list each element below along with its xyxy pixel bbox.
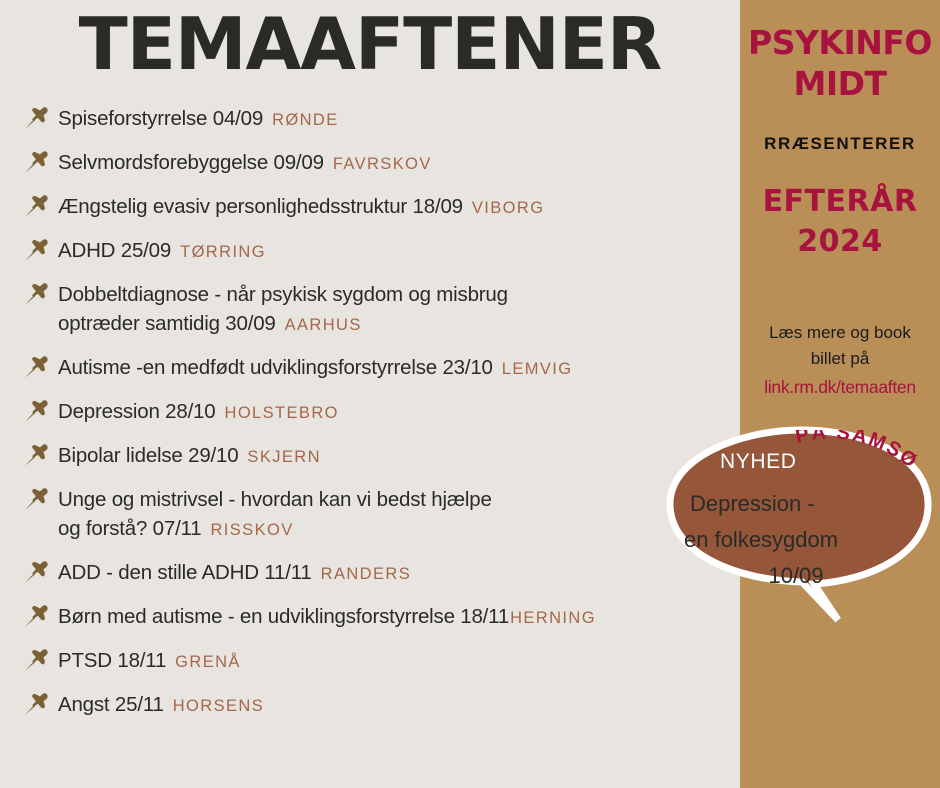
bubble-line-1: Depression - (680, 486, 910, 522)
event-text: ADHD 25/09TØRRING (58, 236, 266, 267)
list-item: Unge og mistrivsel - hvordan kan vi beds… (22, 485, 738, 545)
pushpin-icon (22, 282, 52, 308)
bubble-text-content: NYHED Depression - en folkesygdom 10/09 (662, 424, 940, 614)
season-label: EFTERÅR 2024 (740, 182, 940, 262)
pushpin-icon (22, 355, 52, 381)
bubble-line-3: 10/09 (680, 558, 910, 594)
event-title: Spiseforstyrrelse 04/09 (58, 107, 263, 130)
list-item: Børn med autisme - en udviklingsforstyrr… (22, 602, 738, 633)
event-city: AARHUS (285, 316, 362, 334)
event-title: Selvmordsforebyggelse 09/09 (58, 151, 324, 174)
presents-label: RRÆSENTERER (740, 134, 940, 154)
list-item: ADD - den stille ADHD 11/11RANDERS (22, 558, 738, 589)
page-title: TEMAAFTENER (0, 8, 740, 80)
event-title: Unge og mistrivsel - hvordan kan vi beds… (58, 488, 492, 511)
event-city: GRENÅ (175, 653, 241, 671)
news-badge: NYHED (720, 450, 797, 474)
list-item: Depression 28/10HOLSTEBRO (22, 397, 738, 428)
sidebar-panel: PSYKINFO MIDT RRÆSENTERER EFTERÅR 2024 L… (740, 0, 940, 788)
pushpin-icon (22, 443, 52, 469)
event-text: Spiseforstyrrelse 04/09RØNDE (58, 104, 339, 135)
bubble-line-2: en folkesygdom (680, 522, 910, 558)
event-city: RISSKOV (210, 521, 293, 539)
season-line-2: 2024 (740, 222, 940, 262)
event-text: Bipolar lidelse 29/10SKJERN (58, 441, 321, 472)
poster-canvas: TEMAAFTENER Spiseforstyrrelse 04/09RØNDE… (0, 0, 940, 788)
event-text: Dobbeltdiagnose - når psykisk sygdom og … (58, 280, 508, 340)
event-city: HORSENS (173, 697, 264, 715)
event-text: Børn med autisme - en udviklingsforstyrr… (58, 602, 596, 633)
event-text: Selvmordsforebyggelse 09/09FAVRSKOV (58, 148, 432, 179)
list-item: Selvmordsforebyggelse 09/09FAVRSKOV (22, 148, 738, 179)
pushpin-icon (22, 150, 52, 176)
event-city: RANDERS (321, 565, 411, 583)
list-item: Autisme -en medfødt udviklingsforstyrrel… (22, 353, 738, 384)
event-title: Autisme -en medfødt udviklingsforstyrrel… (58, 356, 493, 379)
event-title-line2: optræder samtidig 30/09AARHUS (58, 309, 508, 340)
event-title: Ængstelig evasiv personlighedsstruktur 1… (58, 195, 463, 218)
event-text: ADD - den stille ADHD 11/11RANDERS (58, 558, 411, 589)
event-city: HOLSTEBRO (225, 404, 339, 422)
event-city: LEMVIG (502, 360, 573, 378)
pushpin-icon (22, 648, 52, 674)
list-item: Ængstelig evasiv personlighedsstruktur 1… (22, 192, 738, 223)
booking-url-link[interactable]: link.rm.dk/temaaften (740, 374, 940, 400)
event-text: Depression 28/10HOLSTEBRO (58, 397, 339, 428)
pushpin-icon (22, 692, 52, 718)
event-city: RØNDE (272, 111, 339, 129)
event-title: PTSD 18/11 (58, 649, 166, 672)
pushpin-icon (22, 238, 52, 264)
event-title: Depression 28/10 (58, 400, 216, 423)
list-item: Angst 25/11HORSENS (22, 690, 738, 721)
pushpin-icon (22, 106, 52, 132)
booking-line-1: Læs mere og book (769, 323, 911, 342)
brand-line-2: MIDT (740, 63, 940, 104)
event-title-line2: og forstå? 07/11RISSKOV (58, 514, 492, 545)
event-title-continued: optræder samtidig 30/09 (58, 312, 276, 335)
list-item: Dobbeltdiagnose - når psykisk sygdom og … (22, 280, 738, 340)
event-title: Børn med autisme - en udviklingsforstyrr… (58, 605, 509, 628)
news-speech-bubble: NYHED Depression - en folkesygdom 10/09 (662, 424, 940, 634)
event-text: Ængstelig evasiv personlighedsstruktur 1… (58, 192, 544, 223)
event-text: Unge og mistrivsel - hvordan kan vi beds… (58, 485, 492, 545)
list-item: PTSD 18/11GRENÅ (22, 646, 738, 677)
season-line-1: EFTERÅR (740, 182, 940, 222)
event-title: Bipolar lidelse 29/10 (58, 444, 238, 467)
booking-line-2: billet på (811, 349, 870, 368)
event-city: HERNING (510, 609, 596, 627)
event-city: SKJERN (247, 448, 321, 466)
event-title: ADHD 25/09 (58, 239, 171, 262)
event-list: Spiseforstyrrelse 04/09RØNDE Selvmordsfo… (22, 104, 738, 734)
list-item: Spiseforstyrrelse 04/09RØNDE (22, 104, 738, 135)
event-city: FAVRSKOV (333, 155, 432, 173)
event-city: VIBORG (472, 199, 545, 217)
pushpin-icon (22, 487, 52, 513)
event-text: PTSD 18/11GRENÅ (58, 646, 241, 677)
event-title: ADD - den stille ADHD 11/11 (58, 561, 312, 584)
pushpin-icon (22, 560, 52, 586)
event-title: Dobbeltdiagnose - når psykisk sygdom og … (58, 283, 508, 306)
pushpin-icon (22, 604, 52, 630)
event-text: Autisme -en medfødt udviklingsforstyrrel… (58, 353, 573, 384)
event-city: TØRRING (180, 243, 266, 261)
booking-info: Læs mere og book billet på link.rm.dk/te… (740, 320, 940, 400)
event-title: Angst 25/11 (58, 693, 164, 716)
brand-name: PSYKINFO MIDT (740, 22, 940, 104)
pushpin-icon (22, 194, 52, 220)
brand-line-1: PSYKINFO (740, 22, 940, 63)
list-item: ADHD 25/09TØRRING (22, 236, 738, 267)
event-text: Angst 25/11HORSENS (58, 690, 264, 721)
bubble-body-text: Depression - en folkesygdom 10/09 (680, 486, 910, 594)
event-title-continued: og forstå? 07/11 (58, 517, 201, 540)
list-item: Bipolar lidelse 29/10SKJERN (22, 441, 738, 472)
pushpin-icon (22, 399, 52, 425)
